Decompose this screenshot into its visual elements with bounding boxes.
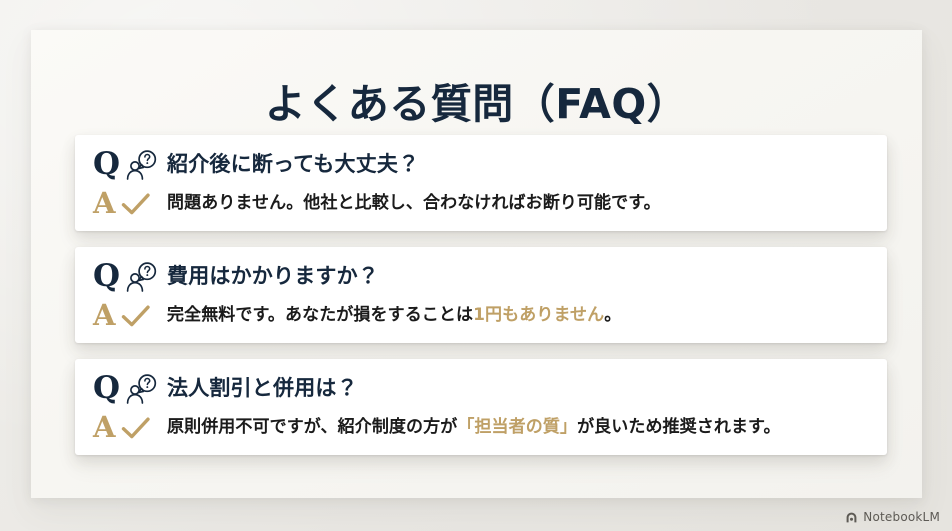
faq-answer-row: A 問題ありません。他社と比較し、合わなければお断り可能です。 [93, 189, 869, 218]
page-title: よくある質問（FAQ） [31, 82, 922, 127]
faq-question-row: Q 費用はかかりますか？ [93, 261, 869, 292]
question-letter: Q [93, 261, 120, 292]
answer-letter: A [93, 189, 116, 218]
faq-answer-row: A 原則併用不可ですが、紹介制度の方が「担当者の質」が良いため推奨されます。 [93, 413, 869, 442]
faq-answer-text: 原則併用不可ですが、紹介制度の方が「担当者の質」が良いため推奨されます。 [167, 416, 781, 438]
answer-marker: A [93, 301, 167, 330]
faq-question-text: 費用はかかりますか？ [167, 263, 379, 289]
faq-answer-row: A 完全無料です。あなたが損をすることは1円もありません。 [93, 301, 869, 330]
person-question-icon [124, 374, 158, 404]
slide-panel: よくある質問（FAQ） Q [31, 30, 922, 498]
faq-question-text: 法人割引と併用は？ [167, 375, 358, 401]
faq-card[interactable]: Q 紹介後に断っても大丈夫？ [75, 135, 887, 231]
question-marker: Q [93, 149, 167, 180]
faq-answer-text: 問題ありません。他社と比較し、合わなければお断り可能です。 [167, 192, 661, 214]
notebooklm-logo-icon [845, 511, 858, 524]
faq-answer-text: 完全無料です。あなたが損をすることは1円もありません。 [167, 304, 621, 326]
question-letter: Q [93, 373, 120, 404]
faq-question-row: Q 紹介後に断っても大丈夫？ [93, 149, 869, 180]
answer-highlight: 「担当者の質」 [457, 417, 577, 437]
check-icon [120, 415, 152, 441]
faq-list: Q 紹介後に断っても大丈夫？ [75, 135, 887, 455]
answer-marker: A [93, 189, 167, 218]
brand-name: NotebookLM [863, 510, 940, 524]
question-marker: Q [93, 373, 167, 404]
question-letter: Q [93, 149, 120, 180]
slide-canvas: よくある質問（FAQ） Q [0, 0, 952, 531]
answer-part: 完全無料です。あなたが損をすることは [167, 305, 473, 325]
question-marker: Q [93, 261, 167, 292]
footer-brand: NotebookLM [845, 510, 940, 524]
answer-part: 原則併用不可ですが、紹介制度の方が [167, 417, 457, 437]
answer-part: が良いため推奨されます。 [577, 417, 781, 437]
answer-part: 問題ありません。他社と比較し、合わなければお断り可能です。 [167, 193, 661, 213]
faq-card[interactable]: Q 費用はかかりますか？ [75, 247, 887, 343]
person-question-icon [124, 262, 158, 292]
answer-letter: A [93, 301, 116, 330]
answer-part: 。 [604, 305, 621, 325]
faq-question-row: Q 法人割引と併用は？ [93, 373, 869, 404]
person-question-icon [124, 150, 158, 180]
faq-card[interactable]: Q 法人割引と併用は？ [75, 359, 887, 455]
answer-highlight: 1円もありません [473, 305, 604, 325]
faq-question-text: 紹介後に断っても大丈夫？ [167, 151, 419, 177]
check-icon [120, 303, 152, 329]
answer-marker: A [93, 413, 167, 442]
answer-letter: A [93, 413, 116, 442]
check-icon [120, 191, 152, 217]
